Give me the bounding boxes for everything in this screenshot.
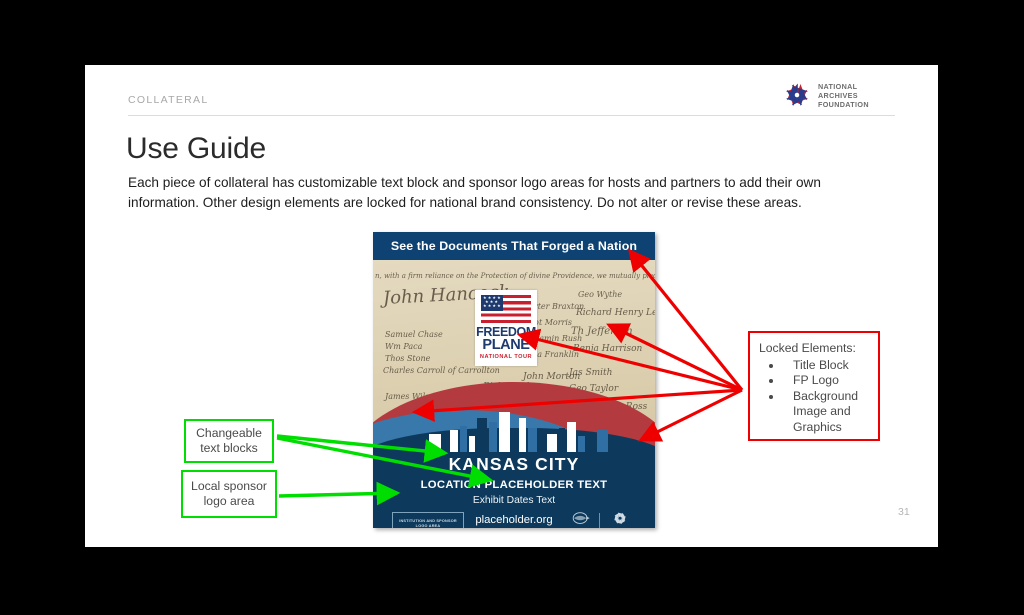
naf-wordmark-line2: FOUNDATION [818,100,898,109]
locked-item: Title Block [783,358,878,374]
slide-kicker: COLLATERAL [128,94,209,106]
parchment-signature: Benja Harrison [573,344,642,354]
screenshot-canvas: COLLATERAL [0,0,1024,615]
callout-local-sponsor-logo-area: Local sponsor logo area [181,470,277,518]
locked-item: FP Logo [783,373,878,389]
national-archives-foundation-logo: NATIONAL ARCHIVES FOUNDATION [782,79,898,111]
poster-title-text: See the Documents That Forged a Nation [391,239,637,253]
parchment-signature: Samuel Chase [385,330,443,339]
city-skyline-graphic [373,408,655,452]
poster-title-block: See the Documents That Forged a Nation [373,232,655,260]
header-divider [128,115,895,116]
us-flag-icon: ★ ★ ★ ★ ★ ★ ★ ★ ★ ★ ★ [481,295,531,323]
locked-heading: Locked Elements: [759,341,878,357]
naf-wordmark-line1: NATIONAL ARCHIVES [818,82,898,100]
locked-items-list: Title Block FP Logo Background Image and… [759,358,878,436]
logo-divider [599,513,600,528]
poster-location-placeholder: LOCATION PLACEHOLDER TEXT [373,479,655,491]
presentation-slide: COLLATERAL [85,65,938,547]
callout-locked-elements: Locked Elements: Title Block FP Logo Bac… [748,331,880,441]
poster-exhibit-dates: Exhibit Dates Text [373,495,655,506]
parchment-signature: Jas Smith [569,368,612,378]
naf-wordmark: NATIONAL ARCHIVES FOUNDATION [818,82,898,109]
poster-city-name: KANSAS CITY [373,454,655,475]
fp-logo-line3: NATIONAL TOUR [480,354,532,360]
naf-pinwheel-icon [782,80,812,110]
freedom-plane-logo: ★ ★ ★ ★ ★ ★ ★ ★ ★ ★ ★ FREEDOM PLANE NATI… [475,290,537,366]
callout-changeable-text-blocks: Changeable text blocks [184,419,274,463]
poster-naf-logo-icon: NATIONAL ARCHIVES FOUNDATION [607,512,633,528]
arrow-to-graphics-lower [641,390,742,440]
locked-item: Background Image and Graphics [783,389,878,436]
national-archives-seal-icon: NATIONAL ARCHIVES [569,512,593,528]
page-title: Use Guide [126,132,266,166]
parchment-signature: Richard Henry Lee [576,308,655,318]
collateral-poster-preview: n, with a firm reliance on the Protectio… [373,232,655,528]
parchment-signature: Wm Paca [385,342,422,351]
page-number: 31 [898,506,910,518]
body-paragraph: Each piece of collateral has customizabl… [128,173,888,213]
poster-sponsor-logo-area: INSTITUTION AND SPONSOR LOGO AREA [392,512,464,528]
fp-logo-line2: PLANE [482,338,529,352]
parchment-script-line: n, with a firm reliance on the Protectio… [375,272,655,280]
parchment-signature: Thos Stone [385,354,430,363]
parchment-signature: Charles Carroll of Carrollton [383,366,500,375]
parchment-signature: Geo Wythe [578,290,622,299]
